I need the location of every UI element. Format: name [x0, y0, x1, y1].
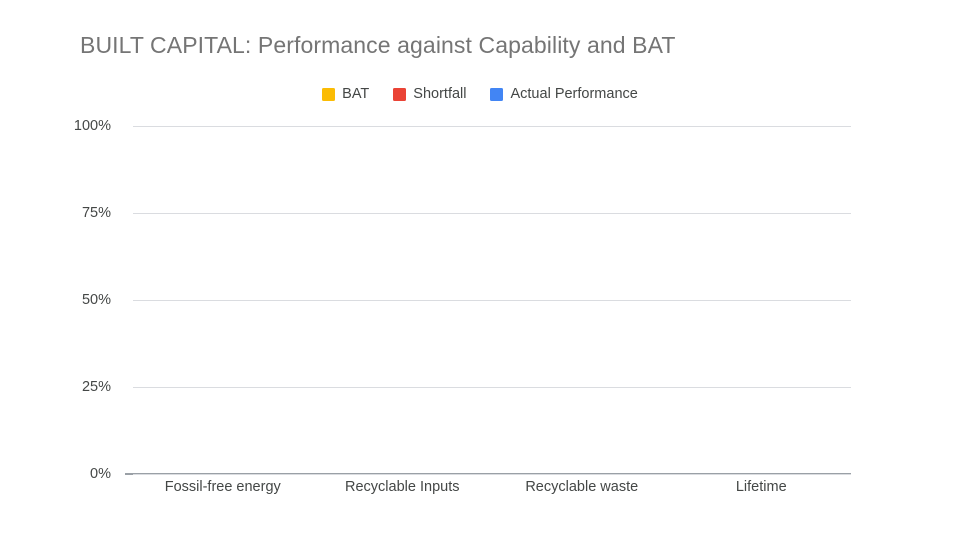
bar-group[interactable]: [528, 126, 636, 474]
legend-swatch-icon: [490, 88, 503, 101]
x-axis-tick-label: Recyclable waste: [525, 479, 638, 495]
y-axis-tick-label: 50%: [82, 292, 111, 308]
y-axis-tick-label: 100%: [74, 118, 111, 134]
legend-swatch-icon: [322, 88, 335, 101]
legend-label: Shortfall: [413, 86, 466, 102]
bar-group[interactable]: [348, 126, 456, 474]
legend-item-actual-performance[interactable]: Actual Performance: [490, 86, 637, 102]
chart-legend: BATShortfallActual Performance: [0, 84, 960, 104]
bar-series-area: [133, 126, 851, 474]
legend-item-bat[interactable]: BAT: [322, 86, 369, 102]
chart-container: BUILT CAPITAL: Performance against Capab…: [0, 0, 960, 540]
y-axis-tick-label: 0%: [90, 466, 111, 482]
x-axis-tick-label: Lifetime: [736, 479, 787, 495]
bar-group[interactable]: [169, 126, 277, 474]
x-axis-tick-label: Recyclable Inputs: [345, 479, 459, 495]
x-axis-labels: Fossil-free energyRecyclable InputsRecyc…: [133, 479, 851, 503]
legend-label: BAT: [342, 86, 369, 102]
y-axis-tick-label: 25%: [82, 379, 111, 395]
y-axis-tick-label: 75%: [82, 205, 111, 221]
x-axis-tick-label: Fossil-free energy: [165, 479, 281, 495]
bar-group[interactable]: [707, 126, 815, 474]
legend-swatch-icon: [393, 88, 406, 101]
legend-item-shortfall[interactable]: Shortfall: [393, 86, 466, 102]
chart-title: BUILT CAPITAL: Performance against Capab…: [80, 31, 675, 59]
legend-label: Actual Performance: [510, 86, 637, 102]
y-axis-labels: 0%25%50%75%100%: [0, 126, 125, 474]
